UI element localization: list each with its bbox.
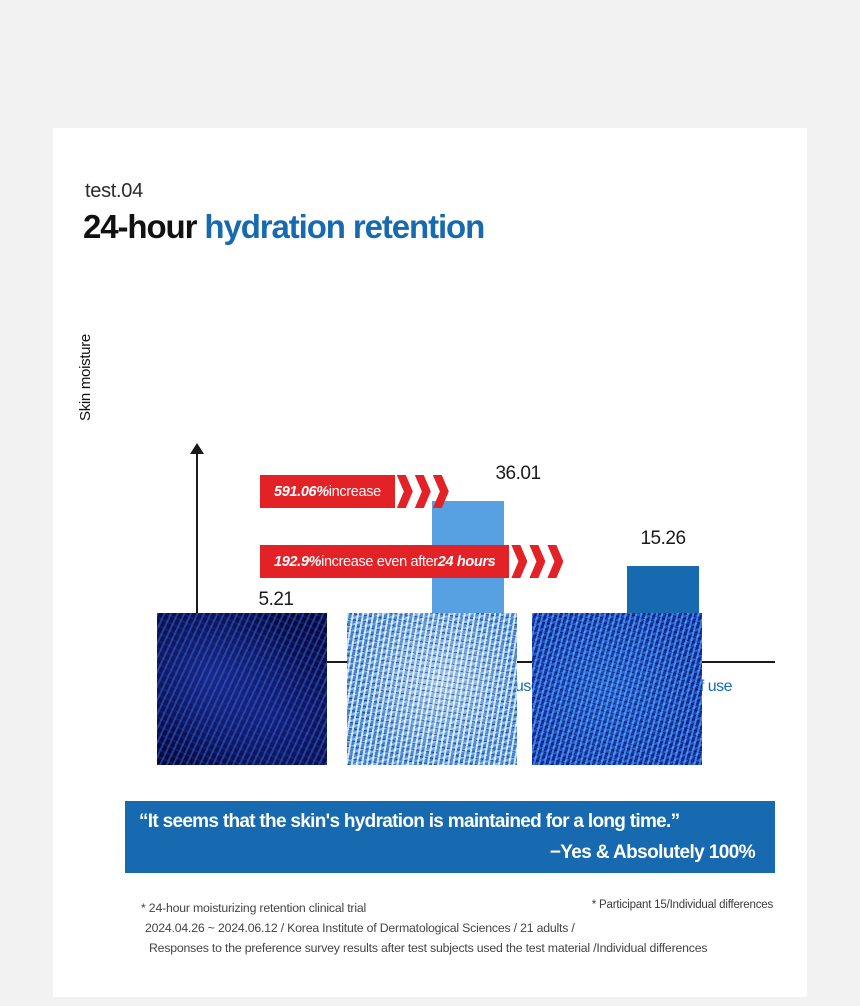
skin-before-use-image bbox=[157, 613, 327, 765]
quote-text: “It seems that the skin's hydration is m… bbox=[139, 811, 755, 833]
footnote-line-3: Responses to the preference survey resul… bbox=[141, 938, 707, 958]
bar-value-after-24-hours: 15.26 bbox=[613, 528, 713, 550]
chevron-right-icon bbox=[547, 545, 563, 578]
chevron-right-icon bbox=[397, 475, 413, 508]
test-kicker: test.04 bbox=[85, 180, 143, 203]
quote-banner: “It seems that the skin's hydration is m… bbox=[125, 801, 775, 873]
skin-immediately-after-image bbox=[347, 613, 517, 765]
annotation-banner-retention: 192.9% increase even after 24 hours bbox=[260, 545, 563, 578]
banner-retention-text: increase even after bbox=[321, 554, 438, 570]
hydration-bar-chart: Skin moisture 5.21 36.01 15.26 591.06% i… bbox=[85, 313, 785, 623]
page-root: test.04 24-hour hydration retention Skin… bbox=[0, 0, 860, 1006]
chevron-right-icon bbox=[433, 475, 449, 508]
chevron-right-icon bbox=[415, 475, 431, 508]
y-axis-label: Skin moisture bbox=[77, 334, 94, 421]
chevron-right-icon bbox=[511, 545, 527, 578]
headline-plain: 24-hour bbox=[83, 208, 196, 245]
clinical-trial-footnotes: * 24-hour moisturizing retention clinica… bbox=[141, 898, 707, 958]
banner-retention-hours: 24 hours bbox=[438, 554, 496, 570]
banner-retention-body: 192.9% increase even after 24 hours bbox=[260, 545, 509, 578]
skin-after-24-hours-image bbox=[532, 613, 702, 765]
quote-attribution: −Yes & Absolutely 100% bbox=[139, 842, 755, 864]
banner-increase-body: 591.06% increase bbox=[260, 475, 395, 508]
headline-accent: hydration retention bbox=[204, 208, 484, 245]
bar-value-immediately-after-use: 36.01 bbox=[468, 463, 568, 485]
content-card: test.04 24-hour hydration retention Skin… bbox=[53, 128, 807, 997]
annotation-banner-increase: 591.06% increase bbox=[260, 475, 449, 508]
chevron-right-icon bbox=[529, 545, 545, 578]
page-title: 24-hour hydration retention bbox=[83, 208, 484, 246]
banner-retention-percent: 192.9% bbox=[274, 554, 321, 570]
banner-increase-text: increase bbox=[329, 484, 381, 500]
banner-increase-percent: 591.06% bbox=[274, 484, 329, 500]
footnote-line-1: * 24-hour moisturizing retention clinica… bbox=[141, 898, 707, 918]
footnote-line-2: 2024.04.26 ~ 2024.06.12 / Korea Institut… bbox=[141, 918, 707, 938]
bar-value-before-use: 5.21 bbox=[226, 589, 326, 611]
